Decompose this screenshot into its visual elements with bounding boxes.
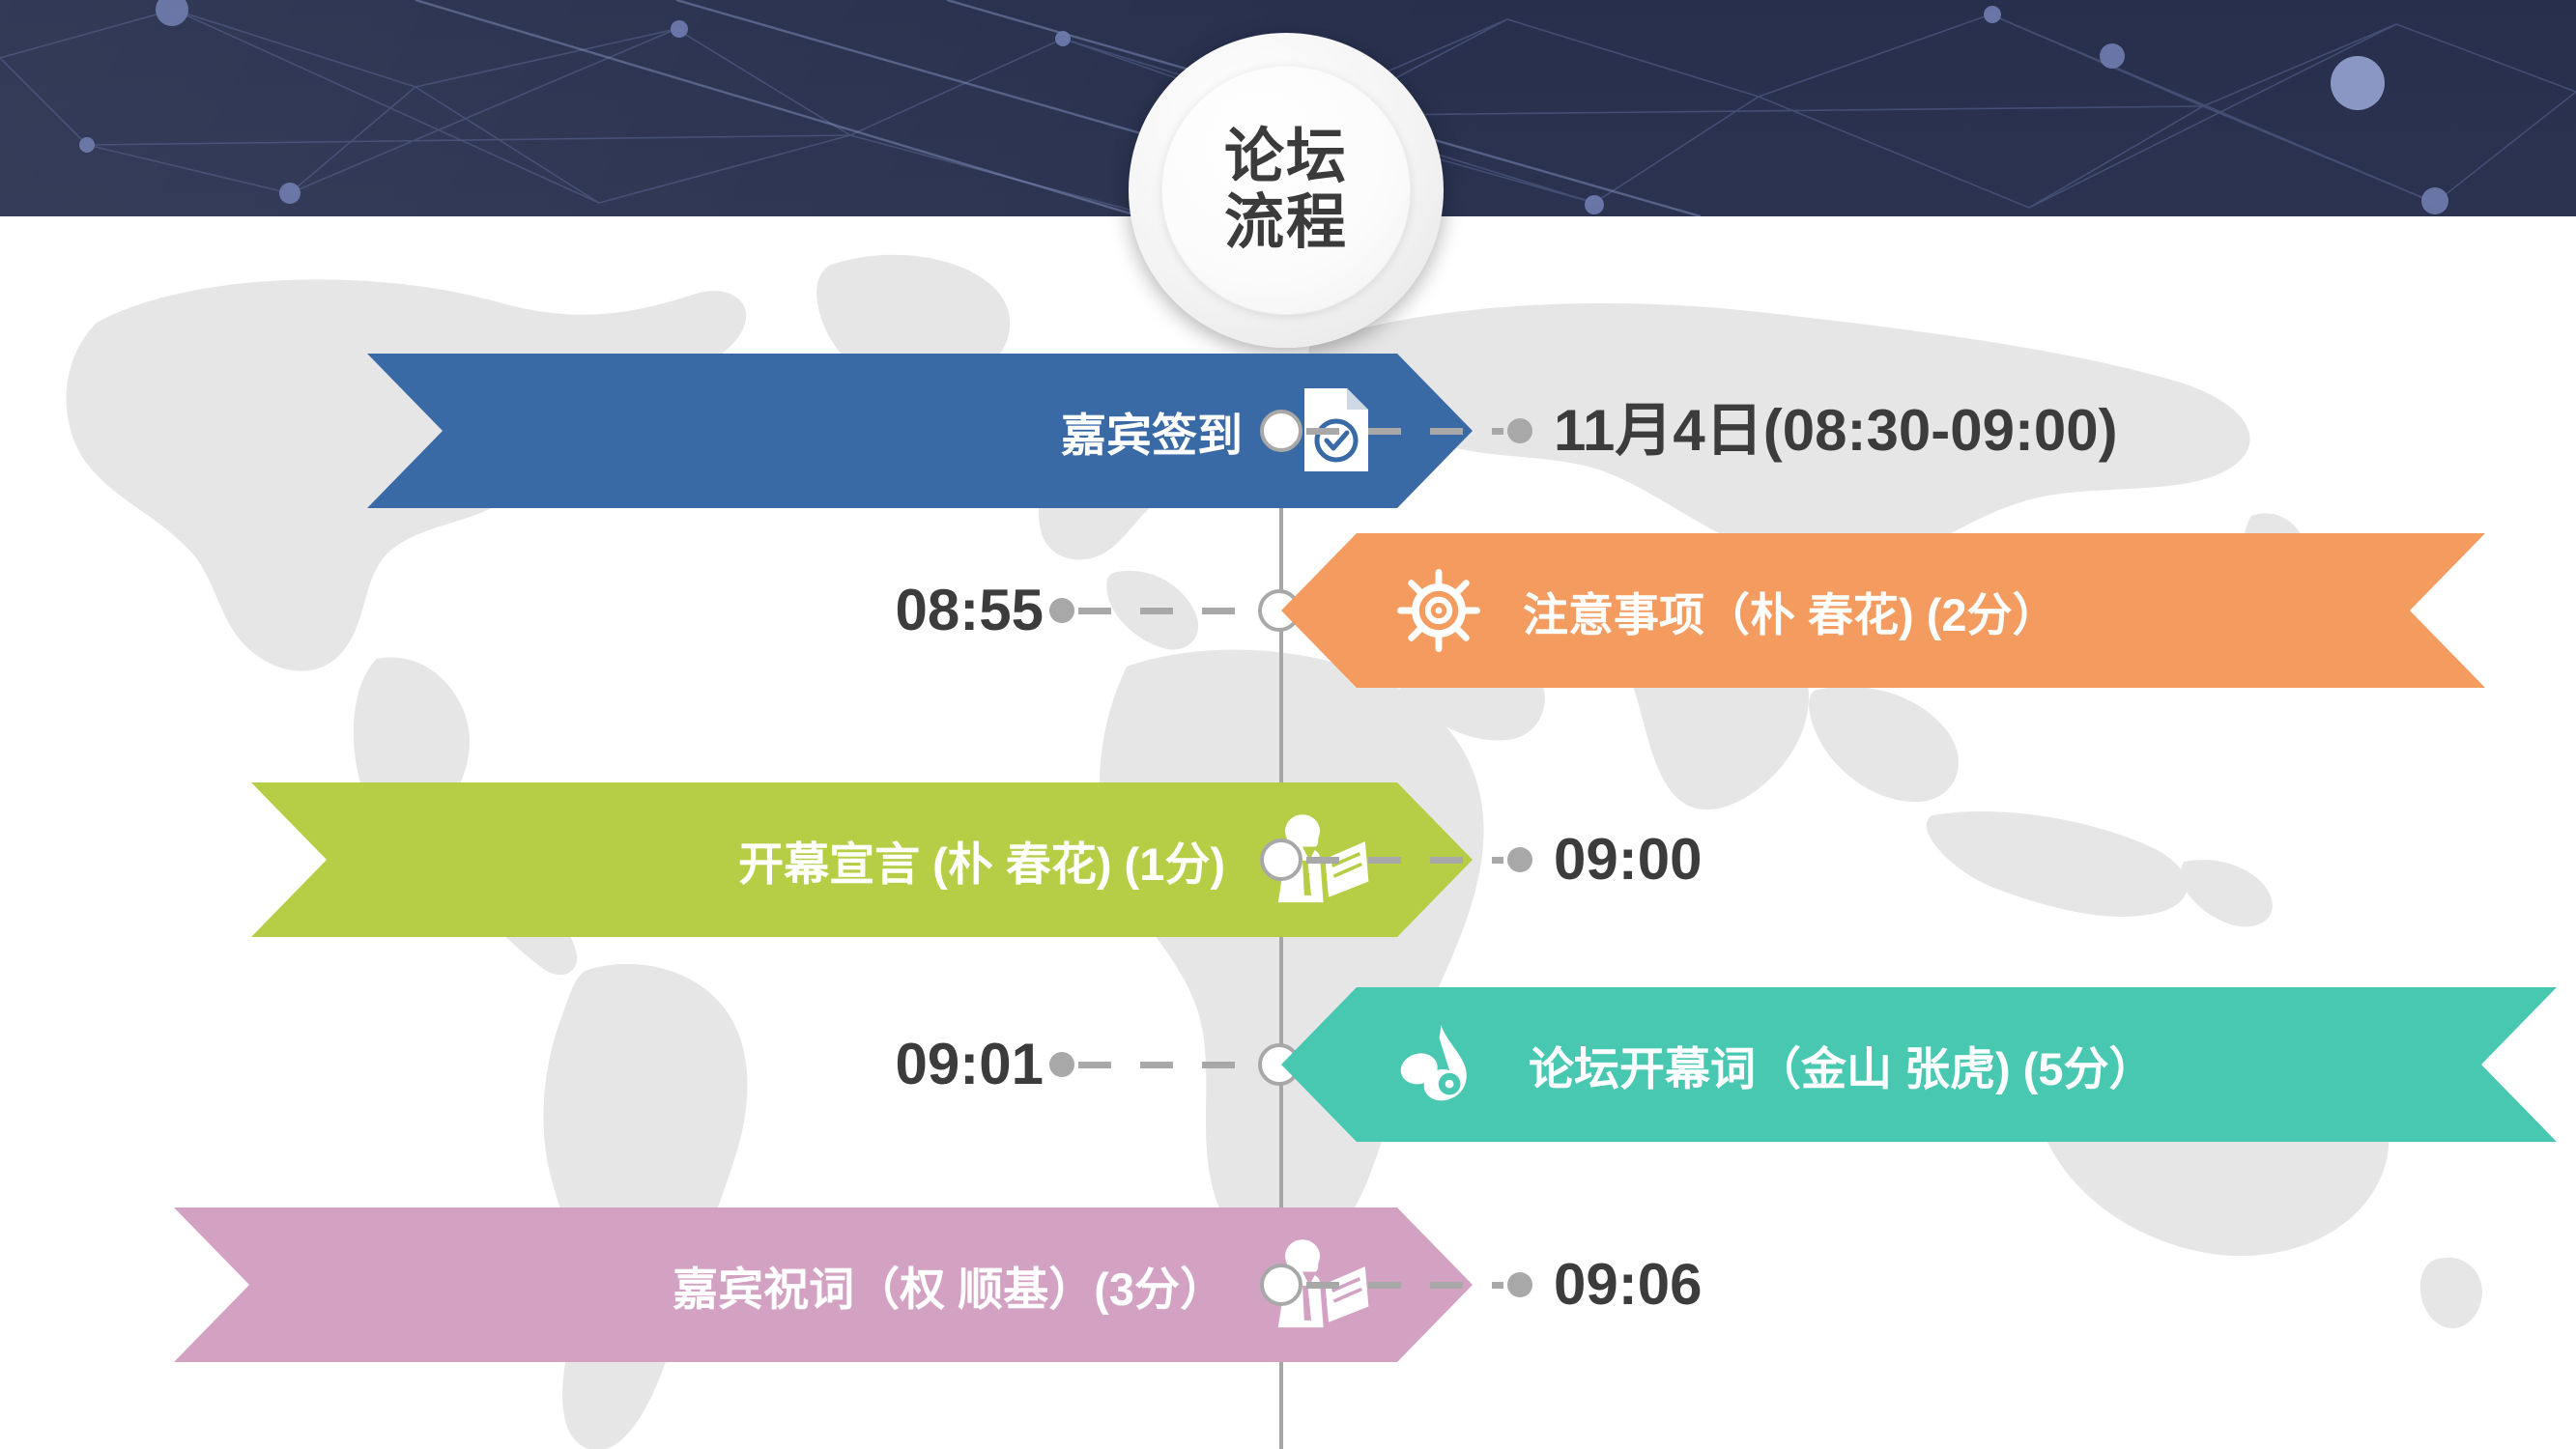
timeline-row-3: 开幕宣言 (朴 春花) (1分) 09:00 [0, 782, 2576, 937]
ship-wheel-icon [1397, 569, 1480, 652]
connector-row-4 [1049, 987, 1301, 1142]
badge-title-line1: 论坛 [1224, 126, 1348, 189]
badge-title-line2: 流程 [1224, 191, 1348, 255]
time-label-5: 09:06 [1554, 1207, 1702, 1362]
axis-ring-5 [1260, 1264, 1302, 1306]
forum-process-badge: 论坛 流程 [1129, 33, 1444, 348]
time-label-2: 08:55 [850, 533, 1044, 688]
banner-notices[interactable]: 注意事项（朴 春花) (2分） [1281, 533, 2485, 688]
time-label-3: 09:00 [1554, 782, 1702, 937]
banner-guest-congratulation-label: 嘉宾祝词（权 顺基）(3分） [673, 1252, 1225, 1319]
dashed-link-1 [1306, 428, 1503, 435]
banner-forum-opening-remarks-label: 论坛开幕词（金山 张虎) (5分） [1529, 1032, 2155, 1098]
end-dot-3 [1507, 847, 1532, 872]
connector-row-2 [1049, 533, 1301, 688]
banner-notices-label: 注意事项（朴 春花) (2分） [1523, 578, 2058, 644]
badge-inner: 论坛 流程 [1161, 66, 1411, 315]
timeline-row-2: 08:55 [0, 533, 2576, 688]
end-dot-4 [1049, 1052, 1074, 1077]
time-label-4: 09:01 [850, 987, 1044, 1142]
banner-guest-checkin-label: 嘉宾签到 [1061, 398, 1243, 465]
dashed-link-5 [1306, 1282, 1503, 1289]
end-dot-5 [1507, 1272, 1532, 1297]
music-note-icon [1397, 1016, 1490, 1113]
timeline-row-4: 09:01 论坛开幕词（金山 张虎) (5分） [0, 987, 2576, 1142]
slide-root: 论坛 流程 嘉宾签到 11月4日(08:30-09:00) 08:55 [0, 0, 2576, 1449]
dashed-link-4 [1078, 1062, 1254, 1068]
timeline-row-5: 嘉宾祝词（权 顺基）(3分） 09:06 [0, 1207, 2576, 1362]
timeline-row-1: 嘉宾签到 11月4日(08:30-09:00) [0, 354, 2576, 508]
dashed-link-2 [1078, 608, 1254, 614]
end-dot-1 [1507, 418, 1532, 443]
end-dot-2 [1049, 598, 1074, 623]
connector-row-3 [1260, 782, 1532, 937]
connector-row-5 [1260, 1207, 1532, 1362]
axis-ring-3 [1260, 838, 1302, 881]
banner-forum-opening-remarks[interactable]: 论坛开幕词（金山 张虎) (5分） [1281, 987, 2557, 1142]
time-label-1: 11月4日(08:30-09:00) [1554, 354, 2118, 508]
dashed-link-3 [1306, 857, 1503, 864]
connector-row-1 [1260, 354, 1532, 508]
banner-opening-declaration-label: 开幕宣言 (朴 春花) (1分) [738, 827, 1225, 894]
axis-ring-1 [1260, 410, 1302, 452]
